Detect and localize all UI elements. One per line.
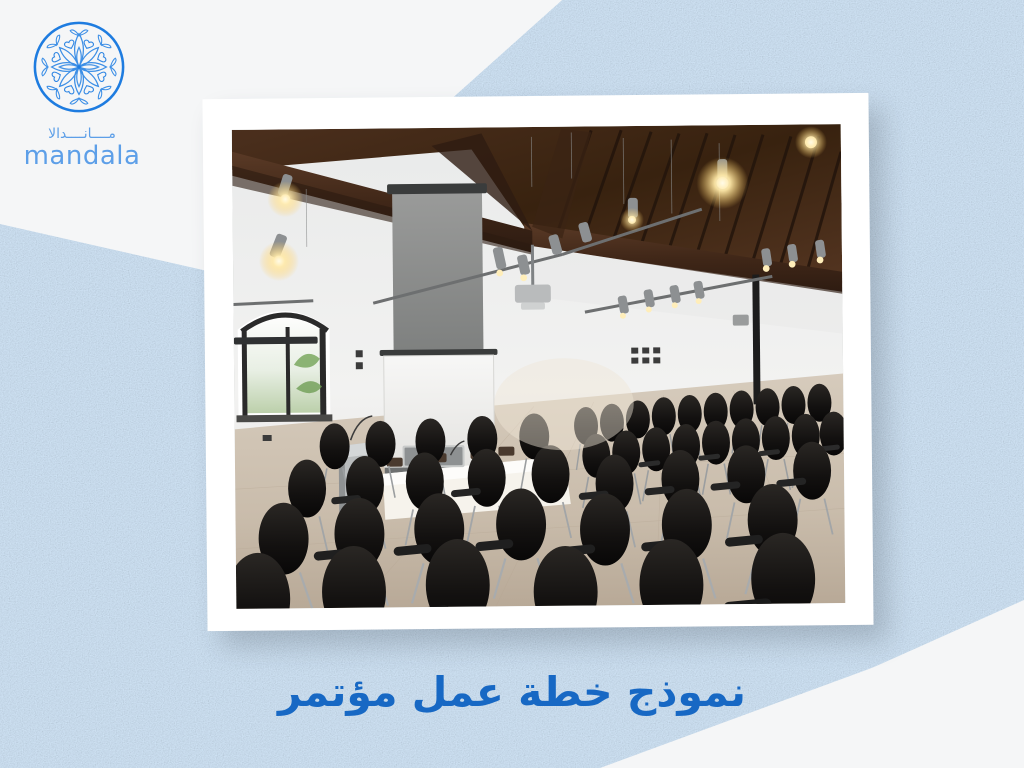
logo-latin-text: mandala: [24, 141, 141, 171]
photo-frame: [202, 93, 873, 631]
slide-title: نموذج خطة عمل مؤتمر: [0, 660, 1024, 726]
mandala-wordmark: مــــانــــدالا mandala: [12, 122, 152, 178]
page-title: نموذج خطة عمل مؤتمر: [278, 668, 746, 717]
mandala-flower-icon: [30, 18, 128, 116]
logo-arabic-text: مــــانــــدالا: [48, 126, 116, 142]
slide-canvas: مــــانــــدالا mandala: [0, 0, 1024, 768]
mandala-logo: مــــانــــدالا mandala: [12, 18, 152, 178]
conference-hall-photo: [232, 124, 846, 609]
